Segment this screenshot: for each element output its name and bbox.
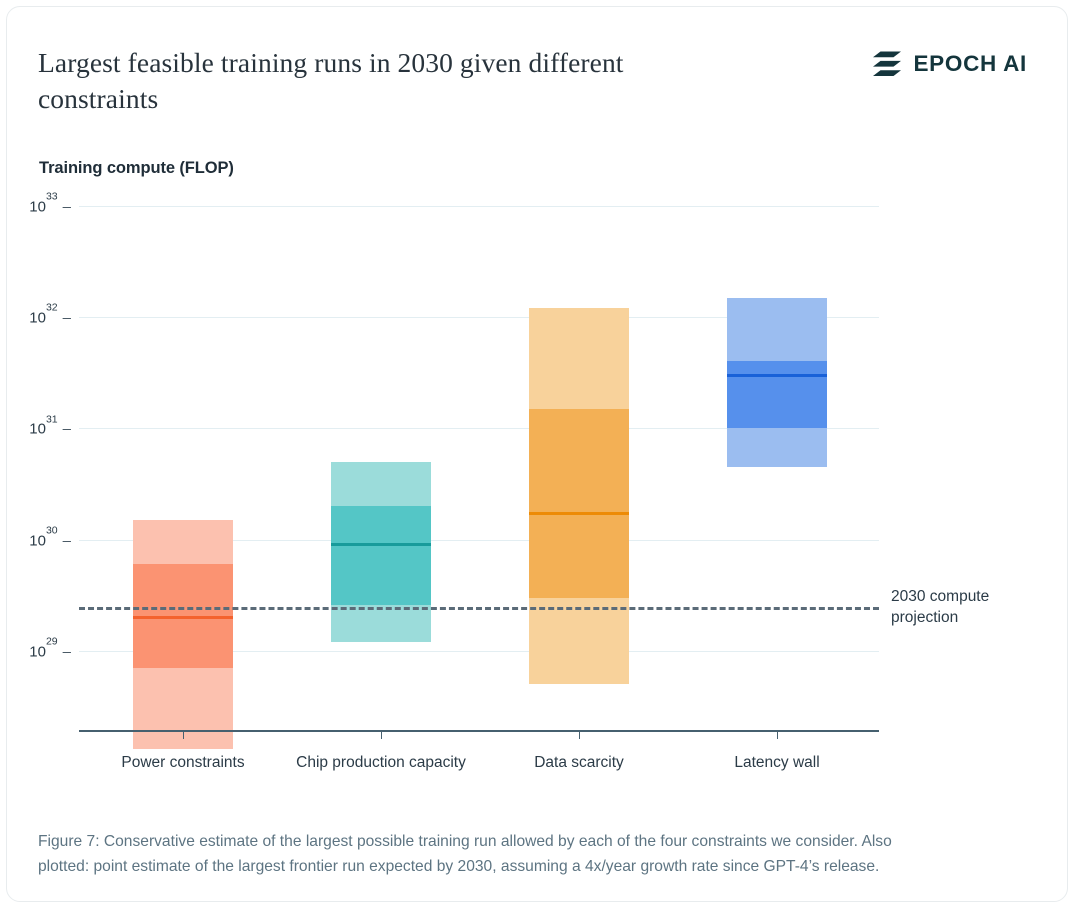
x-axis-tick (183, 730, 184, 739)
projection-label-line1: 2030 compute (891, 586, 1041, 607)
median-line (331, 543, 431, 546)
x-axis-label-data-scarcity: Data scarcity (479, 752, 679, 774)
y-axis-tick-label: 1033– (29, 197, 71, 216)
logo-text: EPOCH AI (913, 51, 1027, 77)
median-line (529, 512, 629, 515)
bar-data-scarcity (529, 187, 629, 727)
bar-latency-wall (727, 187, 827, 727)
epoch-slash-bars-icon (872, 51, 902, 77)
y-axis-tick-label: 1032– (29, 308, 71, 327)
inner-confidence-band (331, 506, 431, 605)
page-title: Largest feasible training runs in 2030 g… (38, 45, 678, 117)
epoch-ai-logo: EPOCH AI (872, 51, 1027, 77)
projection-label-line2: projection (891, 607, 1041, 628)
x-axis-tick (777, 730, 778, 739)
median-line (133, 616, 233, 619)
y-axis-label: Training compute (FLOP) (39, 159, 234, 178)
x-axis-tick (381, 730, 382, 739)
bar-chip-production-capacity (331, 187, 431, 727)
projection-label: 2030 computeprojection (891, 586, 1041, 628)
figure-caption: Figure 7: Conservative estimate of the l… (38, 829, 938, 879)
x-axis-label-chip-production-capacity: Chip production capacity (281, 752, 481, 774)
median-line (727, 374, 827, 377)
y-axis-tick-label: 1031– (29, 419, 71, 438)
x-axis-tick (579, 730, 580, 739)
x-axis-label-latency-wall: Latency wall (677, 752, 877, 774)
x-axis-line (79, 730, 879, 732)
projection-dashed-line (79, 607, 879, 610)
y-axis-tick-label: 1029– (29, 641, 71, 660)
y-axis-tick-label: 1030– (29, 530, 71, 549)
inner-confidence-band (727, 361, 827, 428)
chart-plot-area: 1033–1032–1031–1030–1029–2030 computepro… (79, 187, 879, 727)
bar-power-constraints (133, 187, 233, 727)
inner-confidence-band (529, 409, 629, 598)
x-axis-label-power-constraints: Power constraints (83, 752, 283, 774)
figure-card: Largest feasible training runs in 2030 g… (6, 6, 1068, 902)
caption-divider (7, 807, 1067, 808)
